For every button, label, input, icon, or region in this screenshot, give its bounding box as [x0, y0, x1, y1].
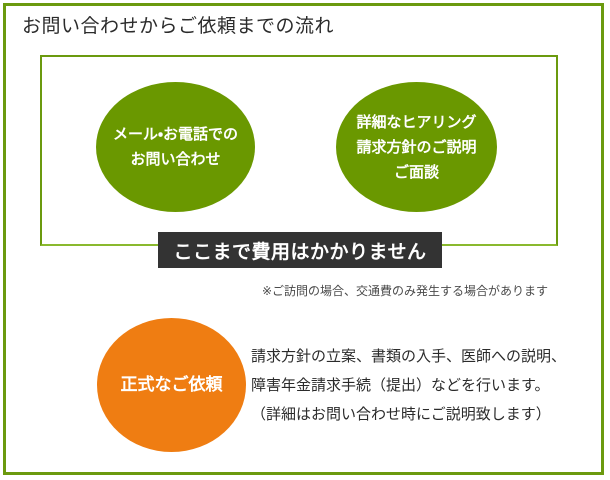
- request-description: 請求方針の立案、書類の入手、医師への説明、 障害年金請求手続（提出）などを行いま…: [251, 342, 596, 429]
- step-circle-contact: メール・お電話での お問い合わせ: [96, 82, 255, 212]
- step-circle-hearing-line-1: 詳細なヒアリング: [356, 110, 476, 135]
- step-circle-contact-line-1: メール・お電話での: [113, 122, 238, 147]
- step-circle-request-label: 正式なご依頼: [115, 373, 229, 397]
- step-circle-hearing-label: 詳細なヒアリング 請求方針のご説明 ご面談: [350, 110, 482, 185]
- step-circle-request: 正式なご依頼: [97, 318, 246, 452]
- travel-cost-note: ※ご訪問の場合、交通費のみ発生する場合があります: [262, 282, 548, 300]
- request-description-line-1: 請求方針の立案、書類の入手、医師への説明、: [251, 342, 596, 371]
- no-cost-banner: ここまで費用はかかりません: [158, 232, 442, 268]
- step-circle-request-line-1: 正式なご依頼: [121, 373, 223, 397]
- step-circle-contact-label: メール・お電話での お問い合わせ: [107, 122, 244, 172]
- diagram-canvas: お問い合わせからご依頼までの流れ メール・お電話での お問い合わせ 詳細なヒアリ…: [0, 0, 610, 480]
- step-circle-hearing: 詳細なヒアリング 請求方針のご説明 ご面談: [336, 82, 497, 212]
- step-circle-contact-line-2: お問い合わせ: [113, 147, 238, 172]
- step-circle-hearing-line-3: ご面談: [356, 160, 476, 185]
- step-circle-hearing-line-2: 請求方針のご説明: [356, 135, 476, 160]
- request-description-line-3: （詳細はお問い合わせ時にご説明致します）: [251, 400, 596, 429]
- page-title: お問い合わせからご依頼までの流れ: [22, 14, 334, 40]
- request-description-line-2: 障害年金請求手続（提出）などを行います。: [251, 371, 596, 400]
